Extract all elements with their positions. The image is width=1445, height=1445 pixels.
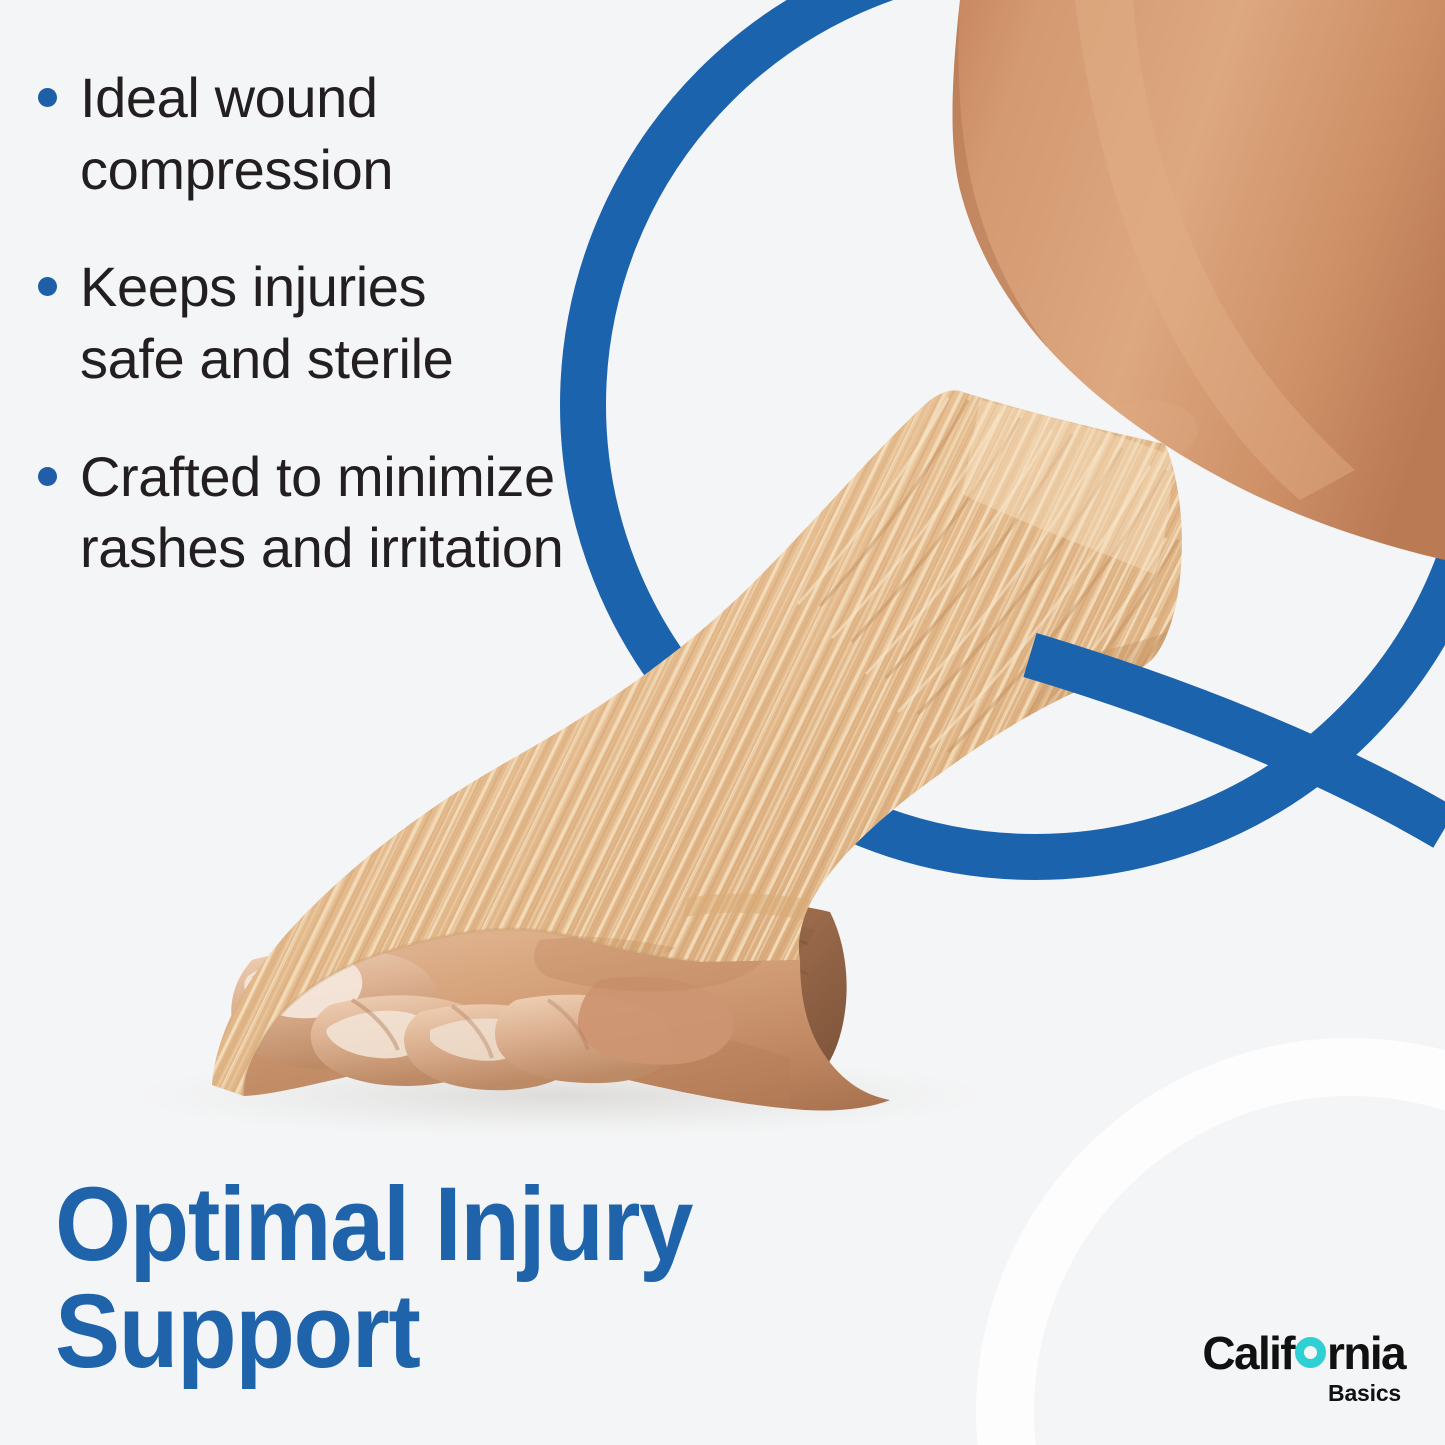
list-item: Crafted to minimize rashes and irritatio… — [38, 441, 738, 584]
bullet-dot-icon — [38, 467, 57, 486]
list-item: Keeps injuries safe and sterile — [38, 251, 738, 394]
feature-bullet-list: Ideal wound compression Keeps injuries s… — [38, 62, 738, 630]
bullet-text: Keeps injuries safe and sterile — [80, 251, 453, 394]
brand-logo: Calif rnia Basics — [1202, 1330, 1405, 1407]
bullet-text: Crafted to minimize rashes and irritatio… — [80, 441, 563, 584]
headline: Optimal Injury Support — [55, 1171, 692, 1385]
bullet-dot-icon — [38, 88, 57, 107]
brand-name: Calif rnia — [1202, 1330, 1405, 1376]
brand-name-part-2: rnia — [1327, 1330, 1405, 1376]
teal-o-ring-icon — [1295, 1337, 1326, 1368]
bullet-dot-icon — [38, 277, 57, 296]
brand-tagline: Basics — [1202, 1380, 1401, 1407]
product-feature-card: Ideal wound compression Keeps injuries s… — [0, 0, 1445, 1445]
brand-name-part-1: Calif — [1202, 1330, 1294, 1376]
list-item: Ideal wound compression — [38, 62, 738, 205]
bullet-text: Ideal wound compression — [80, 62, 393, 205]
